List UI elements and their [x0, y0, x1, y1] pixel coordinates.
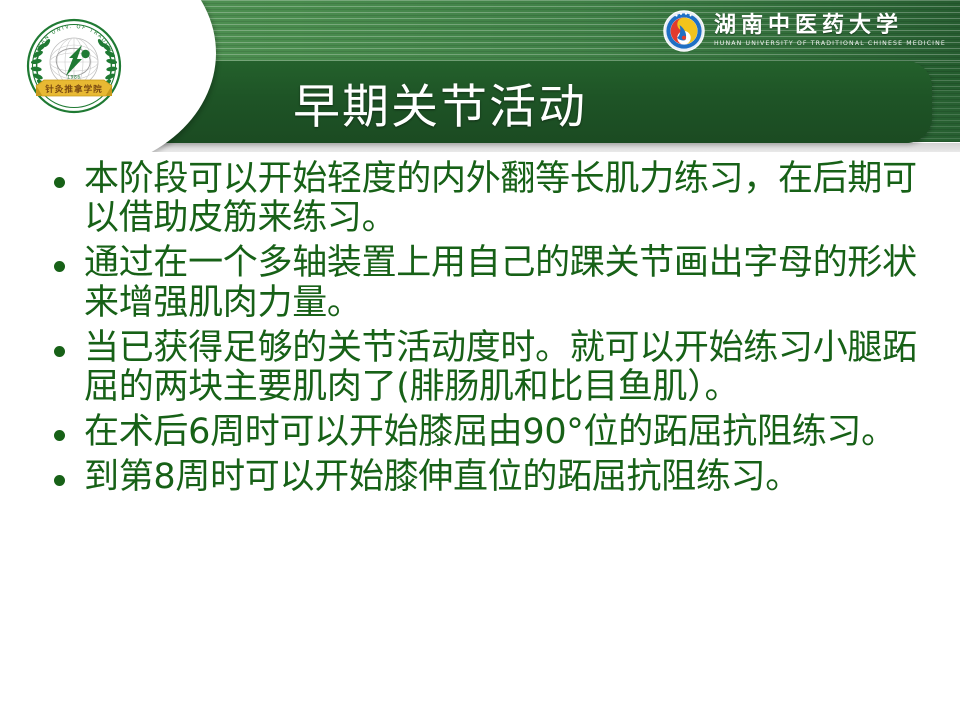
bullet-dot-icon	[54, 475, 65, 486]
bullet-text: 本阶段可以开始轻度的内外翻等长肌力练习，在后期可以借助皮筋来练习。	[84, 160, 938, 238]
list-item: 到第8周时可以开始膝伸直位的跖屈抗阻练习。	[34, 458, 938, 497]
presentation-slide: 早期关节活动 HUNAN UNIV. OF TRADITIONAL CHINES…	[0, 0, 960, 720]
university-logo: 湖南中医药大学 HUNAN UNIVERSITY OF TRADITIONAL …	[663, 8, 946, 54]
bullet-dot-icon	[54, 177, 65, 188]
list-item: 通过在一个多轴装置上用自己的踝关节画出字母的形状来增强肌肉力量。	[34, 244, 938, 322]
list-item: 本阶段可以开始轻度的内外翻等长肌力练习，在后期可以借助皮筋来练习。	[34, 160, 938, 238]
page-title: 早期关节活动	[0, 62, 880, 142]
bullet-text: 在术后6周时可以开始膝屈由90°位的跖屈抗阻练习。	[84, 413, 938, 452]
university-name-cn: 湖南中医药大学	[714, 14, 946, 37]
university-name-en: HUNAN UNIVERSITY OF TRADITIONAL CHINESE …	[714, 38, 946, 48]
slide-header: 早期关节活动 HUNAN UNIV. OF TRADITIONAL CHINES…	[0, 0, 960, 152]
bullet-list: 本阶段可以开始轻度的内外翻等长肌力练习，在后期可以借助皮筋来练习。 通过在一个多…	[34, 160, 938, 498]
bullet-text: 到第8周时可以开始膝伸直位的跖屈抗阻练习。	[84, 458, 938, 497]
university-emblem-icon	[663, 10, 705, 52]
bullet-dot-icon	[54, 261, 65, 272]
list-item: 在术后6周时可以开始膝屈由90°位的跖屈抗阻练习。	[34, 413, 938, 452]
university-name-block: 湖南中医药大学 HUNAN UNIVERSITY OF TRADITIONAL …	[714, 14, 946, 47]
bullet-text: 通过在一个多轴装置上用自己的踝关节画出字母的形状来增强肌肉力量。	[84, 244, 938, 322]
list-item: 当已获得足够的关节活动度时。就可以开始练习小腿跖屈的两块主要肌肉了(腓肠肌和比目…	[34, 329, 938, 407]
bullet-dot-icon	[54, 430, 65, 441]
bullet-dot-icon	[54, 346, 65, 357]
slide-body: 本阶段可以开始轻度的内外翻等长肌力练习，在后期可以借助皮筋来练习。 通过在一个多…	[0, 160, 960, 716]
bullet-text: 当已获得足够的关节活动度时。就可以开始练习小腿跖屈的两块主要肌肉了(腓肠肌和比目…	[84, 329, 938, 407]
